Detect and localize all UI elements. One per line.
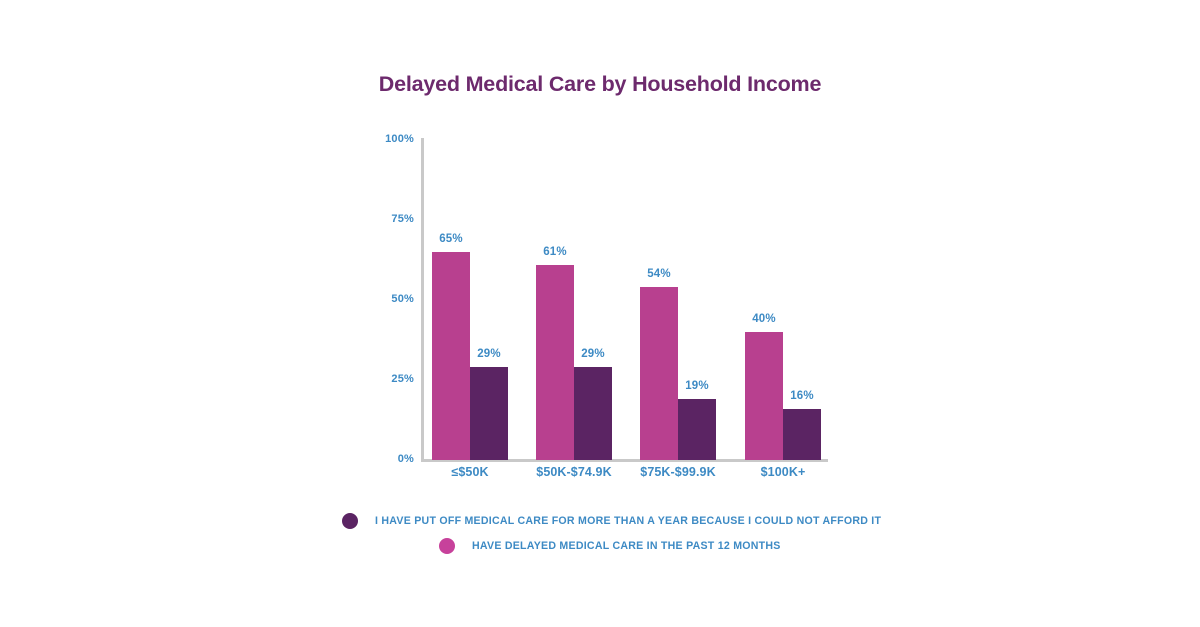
bar-value-label: 19% [685,380,709,392]
bar-value-label: 16% [790,390,814,402]
y-axis-tick-75: 75% [366,213,414,225]
bar-group: 61% 29% [536,140,612,460]
bar-purple[interactable]: 29% [470,367,508,460]
bar-pink[interactable]: 65% [432,252,470,460]
bar-value-label: 29% [477,348,501,360]
bar-purple[interactable]: 29% [574,367,612,460]
y-axis-tick-0: 0% [366,453,414,465]
legend-swatch-pink-icon [439,538,455,554]
legend-label: I HAVE PUT OFF MEDICAL CARE FOR MORE THA… [375,515,881,527]
plot-area: 65% 29% 61% 29% 54% 19% 40% [421,140,828,460]
chart-canvas: Delayed Medical Care by Household Income… [0,0,1200,627]
bar-group: 54% 19% [640,140,716,460]
bar-group: 65% 29% [432,140,508,460]
legend-swatch-purple-icon [342,513,358,529]
legend-item-delayed-care[interactable]: HAVE DELAYED MEDICAL CARE IN THE PAST 12… [439,538,781,554]
y-axis-tick-25: 25% [366,373,414,385]
bar-purple[interactable]: 19% [678,399,716,460]
bar-value-label: 40% [752,313,776,325]
y-axis-tick-50: 50% [366,293,414,305]
bar-pink[interactable]: 61% [536,265,574,460]
bar-purple[interactable]: 16% [783,409,821,460]
bar-value-label: 65% [439,233,463,245]
bar-group: 40% 16% [745,140,821,460]
legend-label: HAVE DELAYED MEDICAL CARE IN THE PAST 12… [472,540,781,552]
legend-item-put-off-care[interactable]: I HAVE PUT OFF MEDICAL CARE FOR MORE THA… [342,513,881,529]
bar-value-label: 54% [647,268,671,280]
y-axis-tick-100: 100% [366,133,414,145]
x-axis-label-3: $100K+ [713,465,853,479]
chart-title: Delayed Medical Care by Household Income [0,72,1200,97]
bar-value-label: 61% [543,246,567,258]
bar-value-label: 29% [581,348,605,360]
bar-pink[interactable]: 40% [745,332,783,460]
bar-pink[interactable]: 54% [640,287,678,460]
